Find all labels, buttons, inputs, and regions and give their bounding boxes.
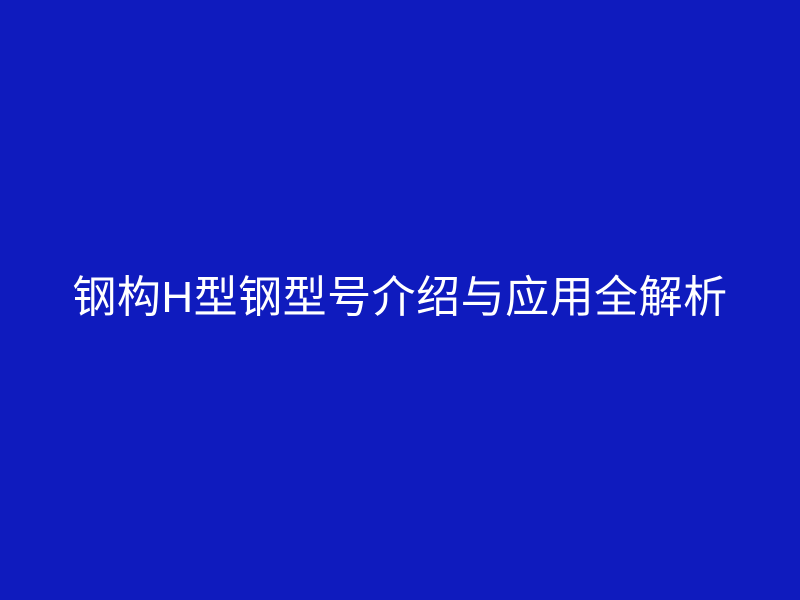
slide-title: 钢构H型钢型号介绍与应用全解析 [72,275,727,321]
title-block: 钢构H型钢型号介绍与应用全解析 [0,0,800,600]
title-slide: 钢构H型钢型号介绍与应用全解析 [0,0,800,600]
